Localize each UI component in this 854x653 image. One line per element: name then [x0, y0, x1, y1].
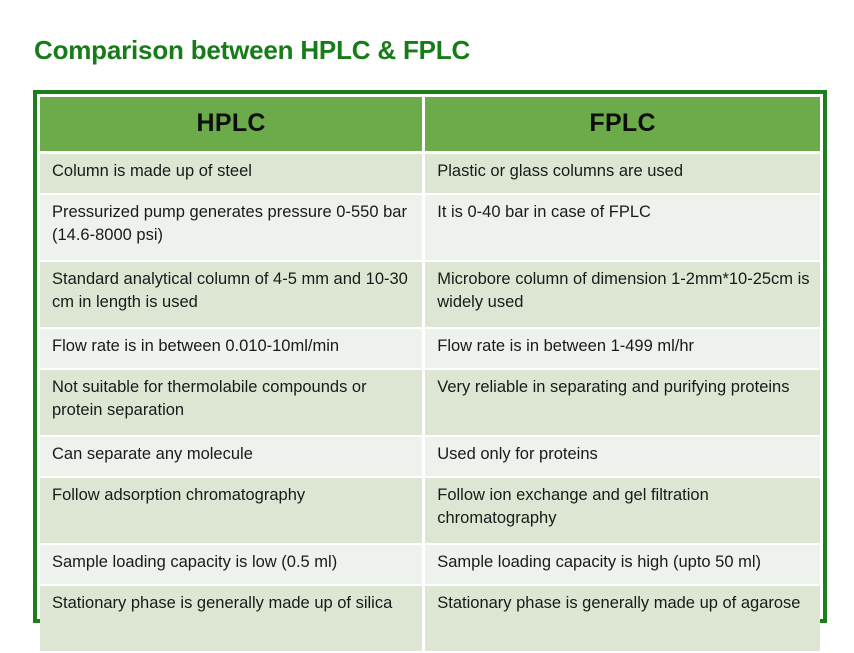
- table-row: Stationary phase is generally made up of…: [40, 585, 820, 652]
- page-title: Comparison between HPLC & FPLC: [34, 34, 470, 66]
- table-row: Column is made up of steel Plastic or gl…: [40, 153, 820, 195]
- cell-fplc: Plastic or glass columns are used: [424, 153, 820, 195]
- column-header-fplc: FPLC: [424, 97, 820, 153]
- cell-hplc: Flow rate is in between 0.010-10ml/min: [40, 328, 424, 369]
- column-header-hplc: HPLC: [40, 97, 424, 153]
- cell-fplc: Flow rate is in between 1-499 ml/hr: [424, 328, 820, 369]
- cell-hplc: Stationary phase is generally made up of…: [40, 585, 424, 652]
- table-header: HPLC FPLC: [40, 97, 820, 153]
- cell-fplc: Stationary phase is generally made up of…: [424, 585, 820, 652]
- table-row: Standard analytical column of 4-5 mm and…: [40, 261, 820, 328]
- cell-fplc: Sample loading capacity is high (upto 50…: [424, 544, 820, 585]
- table-row: Sample loading capacity is low (0.5 ml) …: [40, 544, 820, 585]
- cell-fplc: It is 0-40 bar in case of FPLC: [424, 194, 820, 261]
- comparison-table-frame: HPLC FPLC Column is made up of steel Pla…: [33, 90, 827, 623]
- cell-hplc: Standard analytical column of 4-5 mm and…: [40, 261, 424, 328]
- slide-root: Comparison between HPLC & FPLC HPLC FPLC…: [0, 0, 854, 641]
- cell-fplc: Very reliable in separating and purifyin…: [424, 369, 820, 436]
- table-header-row: HPLC FPLC: [40, 97, 820, 153]
- cell-hplc: Column is made up of steel: [40, 153, 424, 195]
- table-row: Follow adsorption chromatography Follow …: [40, 477, 820, 544]
- cell-fplc: Used only for proteins: [424, 436, 820, 477]
- cell-hplc: Can separate any molecule: [40, 436, 424, 477]
- cell-hplc: Not suitable for thermolabile compounds …: [40, 369, 424, 436]
- cell-hplc: Sample loading capacity is low (0.5 ml): [40, 544, 424, 585]
- cell-fplc: Microbore column of dimension 1-2mm*10-2…: [424, 261, 820, 328]
- table-body: Column is made up of steel Plastic or gl…: [40, 153, 820, 653]
- comparison-table: HPLC FPLC Column is made up of steel Pla…: [40, 97, 820, 653]
- table-row: Can separate any molecule Used only for …: [40, 436, 820, 477]
- table-row: Not suitable for thermolabile compounds …: [40, 369, 820, 436]
- cell-fplc: Follow ion exchange and gel filtration c…: [424, 477, 820, 544]
- table-row: Flow rate is in between 0.010-10ml/min F…: [40, 328, 820, 369]
- cell-hplc: Pressurized pump generates pressure 0-55…: [40, 194, 424, 261]
- cell-hplc: Follow adsorption chromatography: [40, 477, 424, 544]
- table-row: Pressurized pump generates pressure 0-55…: [40, 194, 820, 261]
